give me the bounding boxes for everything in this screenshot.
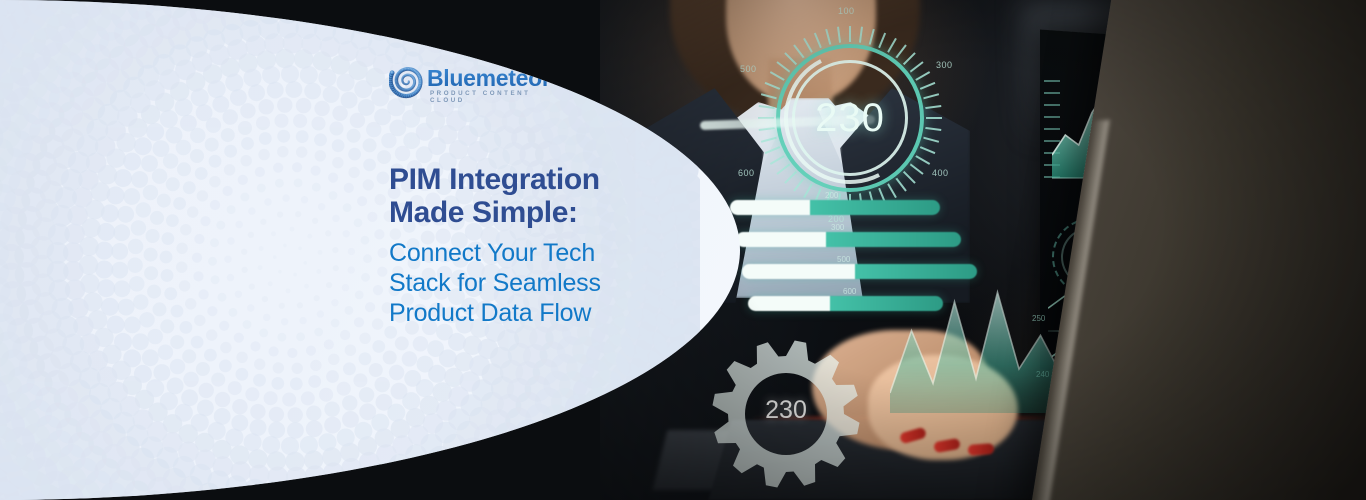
progress-bar-label: 200 bbox=[825, 191, 838, 200]
progress-bar bbox=[736, 232, 961, 247]
gauge-tick-label-400: 400 bbox=[932, 168, 949, 178]
headline-line-2: Made Simple: bbox=[389, 196, 689, 229]
gauge-tick-label-500: 500 bbox=[740, 64, 757, 74]
progress-bar-label: 600 bbox=[843, 287, 856, 296]
content-panel: Bluemeteor ™ PRODUCT CONTENT CLOUD PIM I… bbox=[0, 0, 740, 500]
gauge-tick-label-600: 600 bbox=[738, 168, 755, 178]
brand-tagline: PRODUCT CONTENT CLOUD bbox=[430, 90, 559, 104]
subheadline-line-2: Stack for Seamless bbox=[389, 268, 689, 298]
bluemeteor-spiral-logo-icon bbox=[389, 63, 425, 99]
progress-bar-label: 300 bbox=[831, 223, 844, 232]
headline-block: PIM Integration Made Simple: Connect You… bbox=[389, 163, 689, 328]
gauge-tick-label-100: 100 bbox=[838, 6, 855, 16]
gear-value: 230 bbox=[710, 396, 862, 425]
hero-banner: 160 2 250240230 230 100 300 400 500 600 … bbox=[0, 0, 1366, 500]
gauge-tick-label-300: 300 bbox=[936, 60, 953, 70]
brand-trademark: ™ bbox=[531, 66, 538, 73]
subheadline-line-1: Connect Your Tech bbox=[389, 238, 689, 268]
fingernail bbox=[968, 443, 995, 456]
progress-bar bbox=[742, 264, 977, 279]
headline-line-1: PIM Integration bbox=[389, 163, 689, 196]
progress-bar bbox=[730, 200, 940, 215]
brand-logo[interactable]: Bluemeteor ™ PRODUCT CONTENT CLOUD bbox=[389, 63, 559, 103]
gear-gauge-230: 230 bbox=[710, 338, 862, 490]
subheadline-line-3: Product Data Flow bbox=[389, 298, 689, 328]
progress-bar-label: 500 bbox=[837, 255, 850, 264]
